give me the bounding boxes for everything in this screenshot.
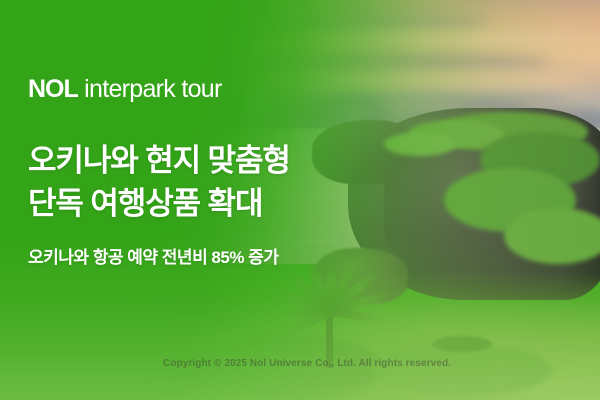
brand-logo[interactable]: NOL interpark tour — [28, 77, 222, 102]
headline-line-2: 단독 여행상품 확대 — [28, 183, 290, 226]
headline-line-1: 오키나와 현지 맞춤형 — [28, 140, 290, 183]
subheadline: 오키나와 항공 예약 전년비 85% 증가 — [28, 247, 278, 269]
logo-mark-nol: NOL — [28, 75, 78, 103]
promo-banner: NOL interpark tour 오키나와 현지 맞춤형 단독 여행상품 확… — [0, 0, 600, 400]
logo-wordmark-interpark-tour: interpark tour — [84, 75, 222, 103]
copyright-notice: Copyright © 2025 Nol Universe Co., Ltd. … — [163, 357, 451, 371]
banner-content: NOL interpark tour 오키나와 현지 맞춤형 단독 여행상품 확… — [0, 0, 600, 400]
headline: 오키나와 현지 맞춤형 단독 여행상품 확대 — [28, 140, 290, 226]
